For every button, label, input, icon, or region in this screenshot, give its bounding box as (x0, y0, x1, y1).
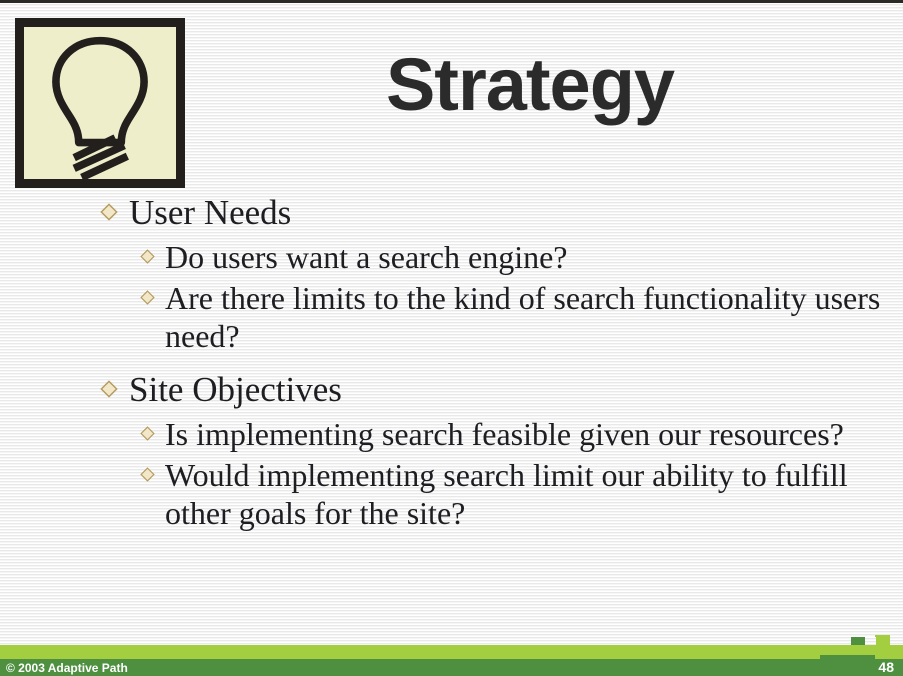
bullet-level1: Site Objectives (100, 369, 890, 411)
bullet-text: Is implementing search feasible given ou… (165, 415, 890, 453)
bullet-text: Would implementing search limit our abil… (165, 456, 890, 532)
presentation-slide: Strategy User Needs Do users want a sear… (0, 0, 903, 676)
bullet-level2: Is implementing search feasible given ou… (100, 415, 890, 453)
diamond-bullet-icon (140, 426, 155, 441)
bullet-text: User Needs (129, 192, 890, 234)
diamond-bullet-icon (140, 467, 155, 482)
slide-body: User Needs Do users want a search engine… (100, 192, 890, 535)
bullet-text: Do users want a search engine? (165, 238, 890, 276)
diamond-bullet-icon (140, 249, 155, 264)
slide-number: 48 (878, 660, 894, 675)
group-spacer (100, 358, 890, 369)
bullet-level1: User Needs (100, 192, 890, 234)
lightbulb-icon (15, 18, 185, 188)
bullet-level2: Would implementing search limit our abil… (100, 456, 890, 532)
diamond-bullet-icon (140, 290, 155, 305)
footer-band-light (0, 645, 903, 659)
diamond-bullet-icon (100, 380, 118, 398)
bullet-level2: Do users want a search engine? (100, 238, 890, 276)
top-rule (0, 0, 903, 3)
bullet-text: Are there limits to the kind of search f… (165, 279, 890, 355)
footer-band-dark (0, 659, 903, 676)
bullet-text: Site Objectives (129, 369, 890, 411)
copyright-text: © 2003 Adaptive Path (6, 661, 128, 675)
bullet-level2: Are there limits to the kind of search f… (100, 279, 890, 355)
page-title: Strategy (200, 48, 860, 122)
diamond-bullet-icon (100, 203, 118, 221)
